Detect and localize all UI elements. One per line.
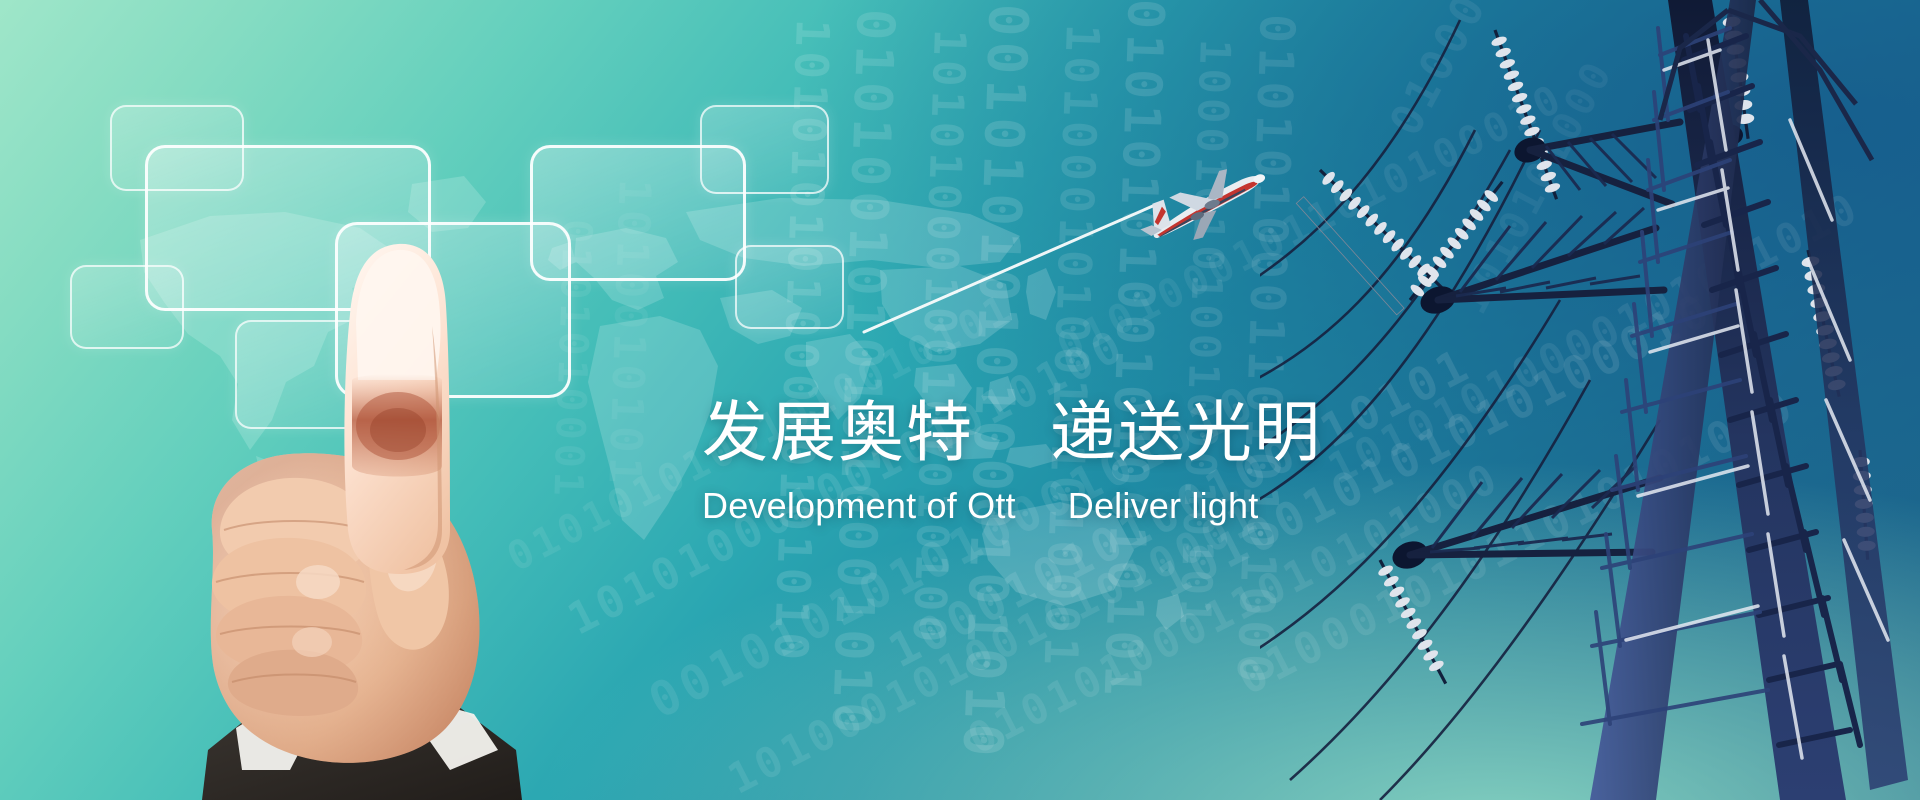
glass-panel-8: [735, 245, 844, 329]
headline-en-right: Deliver light: [1068, 488, 1259, 524]
headline-block: 发展奥特 递送光明 Development of Ott Deliver lig…: [702, 398, 1322, 524]
glass-panel-7: [700, 105, 829, 194]
binary-row-3: 10100010100101010001: [720, 492, 1268, 800]
binary-row-9: 10101010000101001010: [1320, 182, 1868, 493]
headline-english-row: Development of Ott Deliver light: [702, 488, 1322, 524]
binary-accent-4: 1010101000: [1450, 52, 1622, 322]
headline-en-left: Development of Ott: [702, 488, 1016, 524]
binary-column-7: 10001010100100010101: [1170, 38, 1240, 629]
hero-banner: 1010101010001010101001010010101010001010…: [0, 0, 1920, 800]
airplane-icon: [1135, 168, 1275, 248]
binary-column-8: 01010100011010101000: [1226, 13, 1305, 689]
binary-column-5: 10100010100101010001: [1033, 23, 1110, 670]
headline-cn-right: 递送光明: [1050, 398, 1322, 468]
contrail-graphic: [860, 196, 1170, 336]
binary-column-3: 10101000100101010100: [902, 28, 975, 647]
glass-panel-3: [70, 265, 184, 349]
headline-cn-left: 发展奥特: [702, 398, 974, 468]
binary-column-6: 01010101001010010101: [1093, 0, 1175, 702]
binary-row-10: 01010001011010100010: [1050, 75, 1571, 371]
transmission-tower-graphic: [1260, 0, 1920, 800]
headline-chinese-row: 发展奥特 递送光明: [702, 398, 1322, 468]
binary-column-2: 01010010101010001010: [820, 8, 905, 740]
binary-column-4: 00101010101000101010: [951, 3, 1040, 763]
binary-accent-3: 0100010101: [1380, 0, 1570, 144]
